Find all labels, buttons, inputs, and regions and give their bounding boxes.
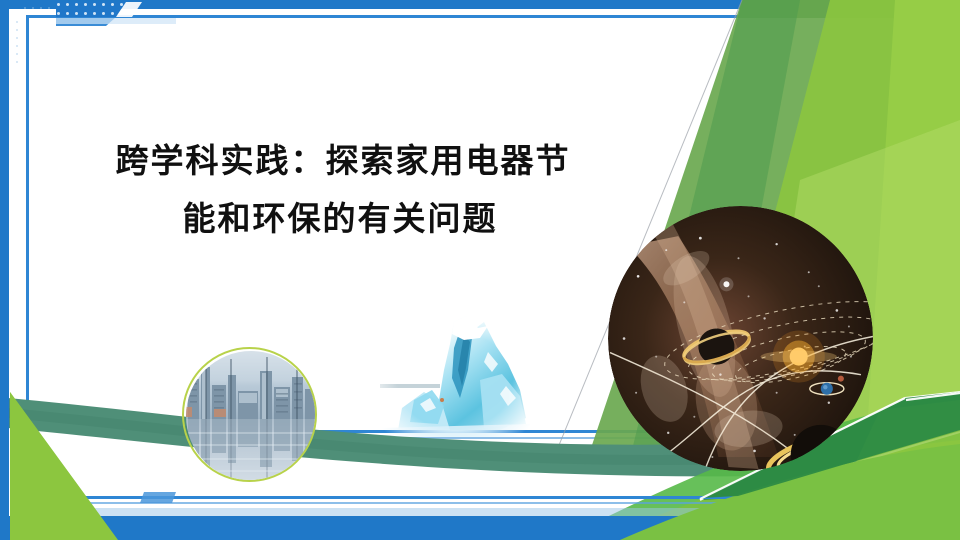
green-column-lime <box>860 0 960 540</box>
city-skyline-reflection-photo <box>182 347 317 482</box>
bottom-tab-accent <box>140 492 176 503</box>
lime-corner-left-inner <box>10 418 96 540</box>
border-top-thick <box>0 0 790 9</box>
presentation-slide: 跨学科实践：探索家用电器节 能和环保的有关问题 <box>0 0 960 540</box>
border-top-thin <box>26 15 786 18</box>
title-line-2: 能和环保的有关问题 <box>60 190 620 248</box>
dotted-ribbon-banner <box>56 2 142 26</box>
lime-corner-left <box>10 392 118 540</box>
bottom-blue-frame <box>0 492 862 540</box>
planet-red-tiny <box>838 376 844 382</box>
lime-corner-left-front <box>10 392 118 540</box>
border-left-thin <box>26 15 29 515</box>
iceberg-glacier-photo <box>380 312 530 437</box>
corner-dot-accent <box>16 7 50 63</box>
border-left-thick <box>0 0 9 540</box>
green-slab-top <box>738 0 960 18</box>
bottom-tab-accent <box>146 428 180 438</box>
galaxy-solar-system-photo <box>608 206 873 471</box>
title-line-1: 跨学科实践：探索家用电器节 <box>60 132 620 190</box>
slide-title: 跨学科实践：探索家用电器节 能和环保的有关问题 <box>60 132 620 248</box>
border-left-front <box>0 0 9 540</box>
